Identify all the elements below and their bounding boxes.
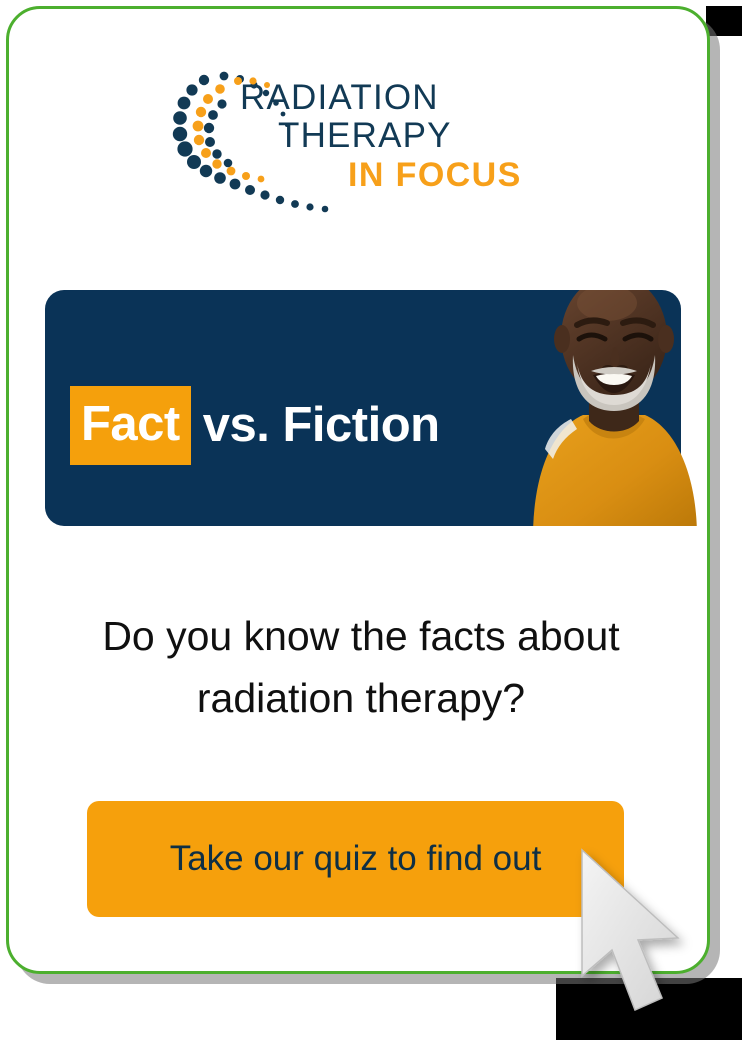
logo-line-therapy: THERAPY bbox=[240, 117, 550, 155]
promo-card: RADIATION THERAPY IN FOCUS Fact vs. Fict… bbox=[6, 6, 710, 974]
background-artifact-bottom bbox=[556, 978, 742, 1040]
take-quiz-button[interactable]: Take our quiz to find out bbox=[87, 801, 624, 917]
banner-highlight-fact: Fact bbox=[70, 386, 191, 465]
logo-line-in-focus: IN FOCUS bbox=[240, 155, 550, 195]
banner-title: Fact vs. Fiction bbox=[70, 386, 440, 465]
screenshot-stage: RADIATION THERAPY IN FOCUS Fact vs. Fict… bbox=[0, 0, 742, 1040]
banner-person-photo bbox=[515, 259, 710, 537]
page-title: Do you know the facts about radiation th… bbox=[39, 605, 683, 729]
logo-line-radiation: RADIATION bbox=[240, 79, 550, 117]
headline-line-2: radiation therapy? bbox=[39, 667, 683, 729]
logo-wordmark: RADIATION THERAPY IN FOCUS bbox=[240, 79, 550, 195]
background-artifact-top-right bbox=[706, 6, 742, 36]
headline-line-1: Do you know the facts about bbox=[39, 605, 683, 667]
banner-text-vs-fiction: vs. Fiction bbox=[191, 401, 440, 450]
logo-block: RADIATION THERAPY IN FOCUS bbox=[9, 57, 707, 237]
banner-wrapper: Fact vs. Fiction bbox=[45, 259, 681, 537]
